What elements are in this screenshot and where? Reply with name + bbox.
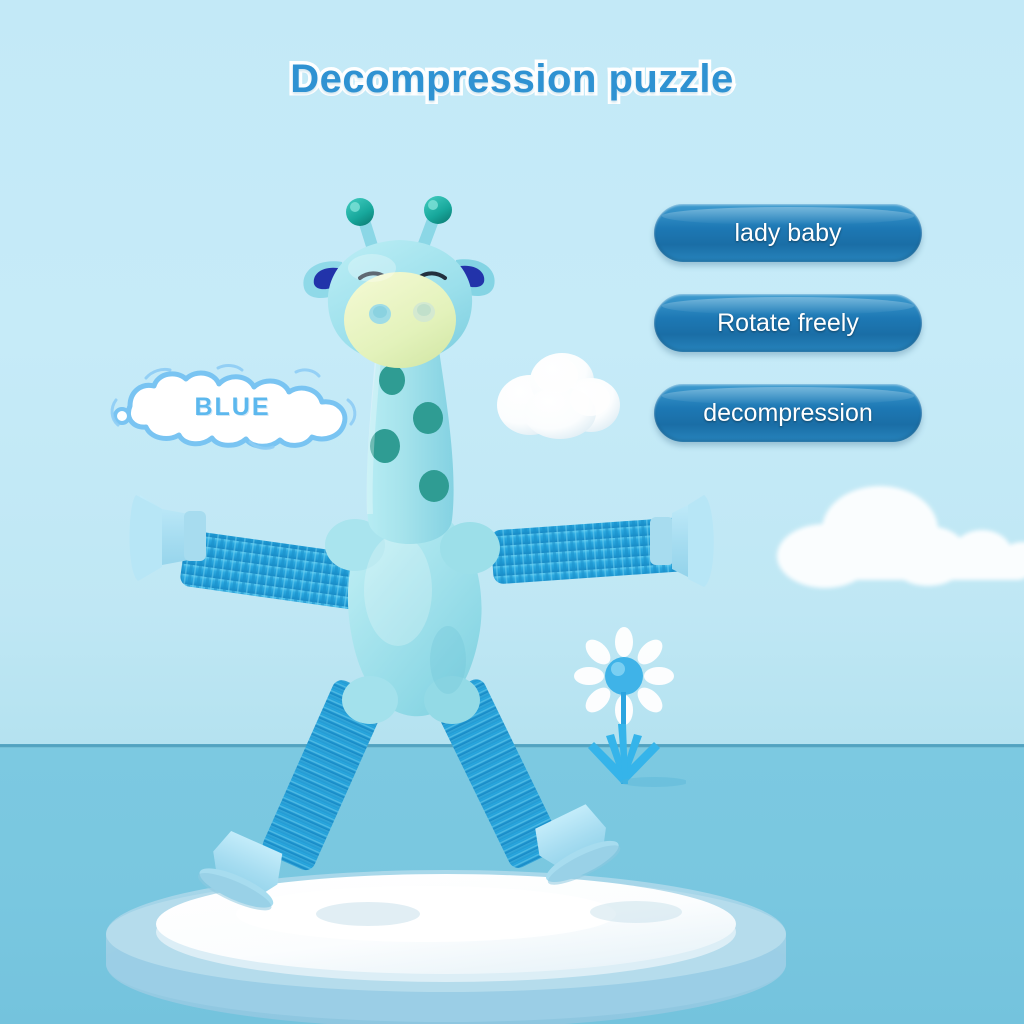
head [303,196,494,368]
giraffe-toy-icon [0,0,1024,1024]
ossicones [346,196,452,246]
feature-badge-label: Rotate freely [717,309,859,338]
product-marketing-image: Decompression puzzle [0,0,1024,1024]
feature-badge-label: decompression [703,399,873,428]
feature-badge-label: lady baby [734,219,841,248]
right-arm [490,495,714,587]
muzzle [344,272,456,368]
